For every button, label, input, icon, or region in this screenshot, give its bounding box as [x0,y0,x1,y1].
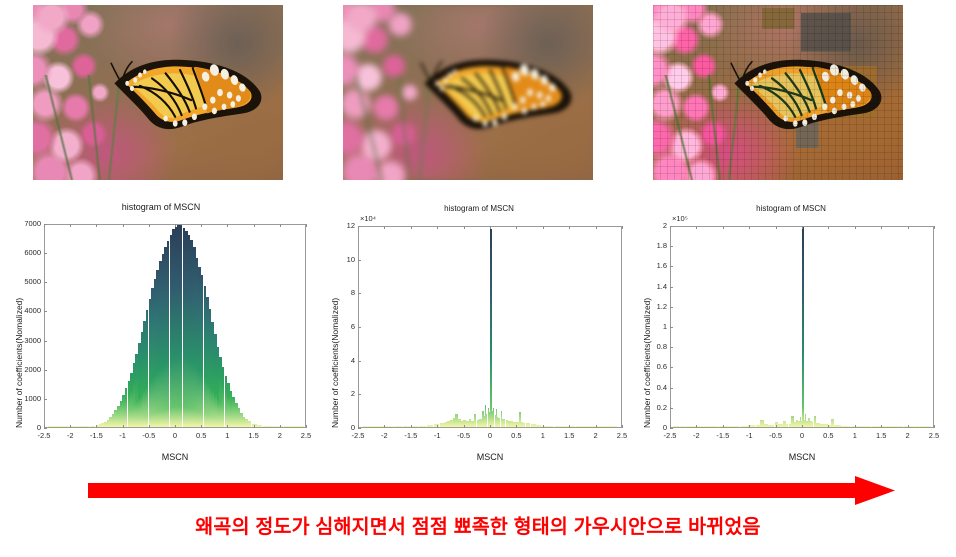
histogram-bar [526,423,531,427]
histogram-bar [915,426,924,427]
y-axis-tick-label: 0.4 [657,383,667,392]
y-axis-tick-label: 4000 [24,306,41,315]
histogram-chart-1: histogram of MSCN Number of coefficients… [2,196,320,472]
x-axis-tick-label: -2 [56,431,84,440]
y-axis-tick-label: 1.4 [657,282,667,291]
y-axis-tick-mark [670,246,673,247]
pixel-grid-overlay [653,5,903,180]
histogram-chart-2: histogram of MSCN ×10⁴ Number of coeffic… [320,196,638,472]
x-axis-tick-label: -2 [682,431,710,440]
histogram-bar [802,226,803,427]
y-axis-tick-label: 8 [351,288,355,297]
histogram-bar [770,425,774,427]
x-axis-tick-mark-top [201,224,202,227]
histogram-bar [427,425,433,427]
x-axis-tick-mark-top [855,226,856,229]
x-axis-tick-mark [123,425,124,428]
x-axis-tick-mark-top [749,226,750,229]
y-axis-tick-mark [670,266,673,267]
x-axis-tick-label: -1 [109,431,137,440]
x-axis-tick-mark [227,425,228,428]
histogram-bar [90,426,95,427]
histogram-bar [395,426,403,427]
histogram-bars [671,227,933,427]
histogram-bars [45,225,305,427]
x-axis-tick-mark-top [306,224,307,227]
chart-ylabel: Number of coefficients(Nomalized) [330,298,340,428]
x-axis-tick-label: 2 [582,431,610,440]
chart-exponent-label: ×10⁵ [672,214,688,223]
x-axis-tick-mark-top [437,226,438,229]
x-axis-tick-label: 2.5 [292,431,320,440]
chart-ylabel: Number of coefficients(Nomalized) [642,298,652,428]
chart-xlabel: MSCN [44,452,306,462]
histogram-bar [299,426,304,427]
chart-title: histogram of MSCN [320,204,638,213]
histogram-bar [403,426,411,427]
y-axis-tick-mark [670,428,673,429]
histogram-bar [363,426,371,427]
x-axis-tick-label: -1 [735,431,763,440]
x-axis-tick-mark-top [828,226,829,229]
histogram-bar [371,426,379,427]
chart-xlabel: MSCN [670,452,934,462]
x-axis-tick-mark [696,425,697,428]
y-axis-tick-label: 0.8 [657,342,667,351]
y-axis-tick-mark [44,282,47,283]
x-axis-tick-mark [749,425,750,428]
x-axis-tick-mark-top [908,226,909,229]
x-axis-tick-label: 0.5 [814,431,842,440]
histogram-bar [607,426,617,427]
y-axis-tick-label: 6000 [24,248,41,257]
x-axis-tick-mark-top [490,226,491,229]
x-axis-tick-mark [175,425,176,428]
x-axis-tick-label: 1.5 [867,431,895,440]
x-axis-tick-mark-top [411,226,412,229]
x-axis-tick-mark-top [670,226,671,229]
x-axis-tick-mark [384,425,385,428]
x-axis-tick-mark [622,425,623,428]
x-axis-tick-mark-top [358,226,359,229]
x-axis-tick-mark-top [723,226,724,229]
y-axis-tick-mark [670,367,673,368]
y-axis-tick-label: 1.8 [657,241,667,250]
x-axis-tick-mark-top [569,226,570,229]
histogram-chart-3: histogram of MSCN ×10⁵ Number of coeffic… [632,196,950,472]
histogram-bar [855,426,861,427]
slide-canvas: histogram of MSCN Number of coefficients… [0,0,956,557]
histogram-bar [882,426,892,427]
x-axis-tick-label: -2.5 [344,431,372,440]
monarch-butterfly-icon [108,40,268,149]
x-axis-tick-label: -2.5 [656,431,684,440]
histogram-bar [576,426,586,427]
x-axis-tick-mark-top [802,226,803,229]
y-axis-tick-label: 6 [351,322,355,331]
y-axis-tick-label: 1.2 [657,302,667,311]
chart-plot-area [44,224,306,428]
histogram-bar [751,425,755,427]
x-axis-tick-mark [670,425,671,428]
x-axis-tick-label: -1.5 [82,431,110,440]
y-axis-tick-label: 4 [351,356,355,365]
x-axis-tick-label: -2.5 [30,431,58,440]
x-axis-tick-label: 1 [213,431,241,440]
x-axis-tick-label: 0.5 [502,431,530,440]
x-axis-tick-label: 2.5 [920,431,948,440]
y-axis-tick-label: 3000 [24,336,41,345]
y-axis-tick-label: 2 [663,221,667,230]
y-axis-tick-label: 1000 [24,394,41,403]
histogram-bar [597,426,607,427]
x-axis-tick-mark [464,425,465,428]
histogram-bar [419,426,427,427]
histogram-bar [708,426,718,427]
histogram-bar [289,426,294,427]
y-axis-tick-label: 0.2 [657,403,667,412]
x-axis-tick-mark [96,425,97,428]
x-axis-tick-mark [490,425,491,428]
x-axis-tick-mark-top [70,224,71,227]
x-axis-tick-mark-top [881,226,882,229]
arrow-shape [88,476,895,505]
x-axis-tick-mark [149,425,150,428]
x-axis-tick-mark [70,425,71,428]
x-axis-tick-label: -0.5 [762,431,790,440]
y-axis-tick-label: 2 [351,389,355,398]
x-axis-tick-mark [934,425,935,428]
histogram-bar [490,229,491,427]
x-axis-tick-mark [569,425,570,428]
x-axis-tick-mark [358,425,359,428]
histogram-bar [257,425,262,427]
y-axis-tick-label: 0.6 [657,362,667,371]
chart-plot-area [670,226,934,428]
histogram-bar [831,419,834,427]
histogram-bar [84,426,89,427]
histogram-bar [893,426,903,427]
x-axis-tick-label: -1.5 [397,431,425,440]
x-axis-tick-mark [855,425,856,428]
x-axis-tick-mark [306,425,307,428]
histogram-bar [923,426,931,427]
progression-arrow [0,474,956,510]
y-axis-tick-mark [670,327,673,328]
x-axis-tick-label: 1.5 [240,431,268,440]
y-axis-tick-mark [44,370,47,371]
x-axis-tick-mark [201,425,202,428]
x-axis-tick-label: 0 [476,431,504,440]
x-axis-tick-label: 0.5 [187,431,215,440]
y-axis-tick-mark [44,253,47,254]
x-axis-tick-mark [802,425,803,428]
x-axis-tick-mark [908,425,909,428]
x-axis-tick-label: 1 [841,431,869,440]
x-axis-tick-mark [516,425,517,428]
x-axis-tick-mark [254,425,255,428]
histogram-bar [729,426,739,427]
x-axis-tick-mark-top [123,224,124,227]
x-axis-tick-mark-top [175,224,176,227]
histogram-bars [359,227,621,427]
y-axis-tick-label: 2000 [24,365,41,374]
x-axis-tick-mark [828,425,829,428]
x-axis-tick-mark-top [696,226,697,229]
x-axis-tick-mark-top [96,224,97,227]
x-axis-tick-mark [437,425,438,428]
histogram-bar [498,418,500,427]
slide-caption: 왜곡의 정도가 심해지면서 점점 뾰족한 형태의 가우시안으로 바뀌었음 [0,510,956,539]
chart-xlabel: MSCN [358,452,622,462]
x-axis-tick-mark [280,425,281,428]
x-axis-tick-label: -0.5 [450,431,478,440]
histogram-bar [545,426,553,427]
x-axis-tick-mark-top [280,224,281,227]
x-axis-tick-label: -0.5 [135,431,163,440]
x-axis-tick-mark-top [543,226,544,229]
x-axis-tick-mark [596,425,597,428]
y-axis-tick-mark [670,307,673,308]
x-axis-tick-mark [411,425,412,428]
y-axis-tick-mark [670,287,673,288]
y-axis-tick-mark [358,260,361,261]
chart-title: histogram of MSCN [632,204,950,213]
y-axis-tick-mark [358,327,361,328]
chart-title: histogram of MSCN [2,202,320,212]
histogram-bar [673,426,686,427]
x-axis-tick-mark-top [464,226,465,229]
histogram-bar [387,426,395,427]
histogram-bar [760,420,764,427]
histogram-bar [555,426,565,427]
histogram-bar [53,426,58,427]
histogram-row: histogram of MSCN Number of coefficients… [0,196,956,472]
chart-ylabel: Number of coefficients(Nomalized) [14,298,24,428]
y-axis-tick-mark [670,408,673,409]
histogram-bar [862,426,871,427]
y-axis-tick-mark [670,388,673,389]
x-axis-tick-mark-top [254,224,255,227]
histogram-bar [273,426,278,427]
histogram-bar [565,426,575,427]
y-axis-tick-label: 5000 [24,277,41,286]
x-axis-tick-mark [881,425,882,428]
x-axis-tick-mark-top [149,224,150,227]
x-axis-tick-label: -1 [423,431,451,440]
x-axis-tick-label: 1.5 [555,431,583,440]
x-axis-tick-mark-top [934,226,935,229]
histogram-bar [379,426,387,427]
butterfly-original-image [33,5,283,180]
y-axis-tick-label: 1 [663,322,667,331]
y-axis-tick-label: 10 [347,255,355,264]
x-axis-tick-label: 0 [161,431,189,440]
y-axis-tick-label: 7000 [24,219,41,228]
y-axis-tick-mark [358,394,361,395]
y-axis-tick-mark [44,428,47,429]
x-axis-tick-mark-top [596,226,597,229]
x-axis-tick-label: -1.5 [709,431,737,440]
butterfly-pixelated-image [653,5,903,180]
y-axis-tick-mark [358,428,361,429]
y-axis-tick-mark [670,347,673,348]
y-axis-tick-mark [358,361,361,362]
y-axis-tick-mark [44,399,47,400]
x-axis-tick-mark [723,425,724,428]
y-axis-tick-mark [44,341,47,342]
x-axis-tick-mark-top [227,224,228,227]
x-axis-tick-mark [543,425,544,428]
monarch-butterfly-icon [418,40,578,149]
image-row [0,0,956,195]
y-axis-tick-label: 12 [347,221,355,230]
x-axis-tick-label: 2 [894,431,922,440]
histogram-bar [840,426,844,427]
x-axis-tick-label: 0 [788,431,816,440]
x-axis-tick-mark [776,425,777,428]
x-axis-tick-mark-top [516,226,517,229]
histogram-bar [698,426,708,427]
y-axis-tick-mark [358,293,361,294]
butterfly-blurred-image [343,5,593,180]
x-axis-tick-mark-top [44,224,45,227]
x-axis-tick-mark [44,425,45,428]
x-axis-tick-label: -2 [370,431,398,440]
histogram-bar [247,421,251,427]
x-axis-tick-label: 2 [266,431,294,440]
y-axis-tick-label: 1.6 [657,261,667,270]
x-axis-tick-mark-top [384,226,385,229]
x-axis-tick-mark-top [776,226,777,229]
x-axis-tick-mark-top [622,226,623,229]
chart-exponent-label: ×10⁴ [360,214,376,223]
y-axis-tick-mark [44,311,47,312]
chart-plot-area [358,226,622,428]
x-axis-tick-label: 1 [529,431,557,440]
